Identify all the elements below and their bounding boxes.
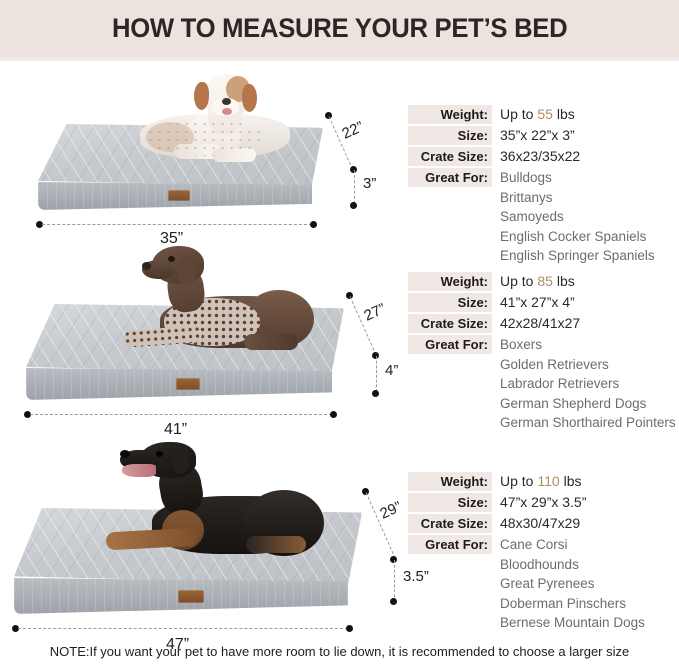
spec-value-weight: Up to 85 lbs	[492, 272, 575, 291]
page-title: HOW TO MEASURE YOUR PET’S BED	[112, 13, 567, 44]
weight-prefix: Up to	[500, 273, 537, 289]
spec-row-size: Size: 35”x 22”x 3”	[408, 126, 676, 145]
spec-value-size: 41”x 27”x 4”	[492, 293, 575, 312]
dim-line-height	[354, 170, 355, 204]
spec-value-crate-size: 42x28/41x27	[492, 314, 580, 333]
brand-logo-patch	[168, 190, 190, 201]
spec-label-crate-size: Crate Size:	[408, 314, 492, 333]
dog-eye	[156, 451, 163, 457]
brand-logo-patch	[178, 590, 204, 603]
spec-row-weight: Weight: Up to 55 lbs	[408, 105, 676, 124]
size-section-small: 35” 22” 3” Weight: Up to 55 lbs Size: 35…	[0, 62, 679, 234]
spec-table-large: Weight: Up to 110 lbs Size: 47”x 29”x 3.…	[408, 472, 676, 635]
spec-label-great-for: Great For:	[408, 535, 492, 554]
spec-row-size: Size: 47”x 29”x 3.5”	[408, 493, 676, 512]
weight-prefix: Up to	[500, 106, 537, 122]
breed-item: Golden Retrievers	[500, 355, 676, 375]
dim-label-height: 4”	[385, 362, 398, 379]
spec-label-weight: Weight:	[408, 472, 492, 491]
weight-number: 55	[537, 106, 553, 122]
weight-suffix: lbs	[553, 273, 575, 289]
breed-item: Bloodhounds	[500, 555, 645, 575]
weight-suffix: lbs	[553, 106, 575, 122]
dog-german-shorthaired-pointer	[126, 246, 316, 364]
spec-value-weight: Up to 110 lbs	[492, 472, 581, 491]
page-header: HOW TO MEASURE YOUR PET’S BED	[0, 0, 679, 57]
dog-ear	[178, 256, 196, 286]
spec-row-great-for: Great For: Boxers Golden Retrievers Labr…	[408, 335, 676, 433]
spec-value-crate-size: 48x30/47x29	[492, 514, 580, 533]
dog-rear-leg-tan	[246, 536, 306, 553]
breed-item: Bulldogs	[500, 168, 655, 188]
header-underline	[0, 57, 679, 61]
spec-row-crate: Crate Size: 36x23/35x22	[408, 147, 676, 166]
breed-item: Boxers	[500, 335, 676, 355]
footer-note: NOTE:If you want your pet to have more r…	[0, 644, 679, 659]
breed-item: Cane Corsi	[500, 535, 645, 555]
bed-illustration-small: 35” 22” 3”	[38, 72, 368, 232]
spec-label-size: Size:	[408, 493, 492, 512]
spec-row-weight: Weight: Up to 110 lbs	[408, 472, 676, 491]
spec-table-medium: Weight: Up to 85 lbs Size: 41”x 27”x 4” …	[408, 272, 676, 435]
dog-doberman-pinscher	[110, 438, 325, 578]
spec-value-crate-size: 36x23/35x22	[492, 147, 580, 166]
spec-value-size: 47”x 29”x 3.5”	[492, 493, 586, 512]
spec-row-great-for: Great For: Cane Corsi Bloodhounds Great …	[408, 535, 676, 633]
dim-dot-width-right	[310, 221, 317, 228]
spec-row-crate: Crate Size: 42x28/41x27	[408, 314, 676, 333]
breed-item: Samoyeds	[500, 207, 655, 227]
dog-nose	[142, 262, 151, 270]
breed-item: Brittanys	[500, 188, 655, 208]
spec-label-great-for: Great For:	[408, 168, 492, 187]
spec-label-weight: Weight:	[408, 105, 492, 124]
spec-label-size: Size:	[408, 126, 492, 145]
dog-ear	[172, 448, 189, 474]
breed-item: Great Pyrenees	[500, 574, 645, 594]
weight-prefix: Up to	[500, 473, 537, 489]
spec-row-weight: Weight: Up to 85 lbs	[408, 272, 676, 291]
spec-label-size: Size:	[408, 293, 492, 312]
size-section-medium: 41” 27” 4” Weight: Up to 85 lbs Size: 41…	[0, 232, 679, 422]
size-section-large: 47” 29” 3.5” Weight: Up to 110 lbs Size:…	[0, 420, 679, 638]
spec-row-crate: Crate Size: 48x30/47x29	[408, 514, 676, 533]
weight-number: 85	[537, 273, 553, 289]
brand-logo-patch	[176, 378, 200, 390]
dim-dot-height-bottom	[372, 390, 379, 397]
dim-label-depth: 29”	[377, 498, 404, 522]
dog-ear-left	[194, 82, 209, 110]
dog-nose	[120, 450, 130, 458]
dog-brittany-spaniel	[130, 72, 300, 172]
spec-label-crate-size: Crate Size:	[408, 147, 492, 166]
dim-line-width	[30, 414, 332, 415]
spec-label-crate-size: Crate Size:	[408, 514, 492, 533]
breed-list: Cane Corsi Bloodhounds Great Pyrenees Do…	[492, 535, 645, 633]
spec-label-weight: Weight:	[408, 272, 492, 291]
dim-line-height	[376, 356, 377, 392]
dim-dot-height-bottom	[350, 202, 357, 209]
breed-item: German Shepherd Dogs	[500, 394, 676, 414]
dim-line-height	[394, 560, 395, 602]
dim-dot-height-bottom	[390, 598, 397, 605]
bed-illustration-large: 47” 29” 3.5”	[14, 438, 386, 636]
spec-value-size: 35”x 22”x 3”	[492, 126, 575, 145]
dog-eye	[168, 256, 175, 262]
spec-row-size: Size: 41”x 27”x 4”	[408, 293, 676, 312]
spec-value-weight: Up to 55 lbs	[492, 105, 575, 124]
dim-label-height: 3”	[363, 175, 376, 192]
breed-item: Bernese Mountain Dogs	[500, 613, 645, 633]
dim-label-depth: 27”	[361, 300, 388, 324]
dim-dot-width-right	[330, 411, 337, 418]
dog-open-mouth-tongue	[122, 464, 156, 477]
dog-ear-right	[242, 84, 257, 112]
dog-rear-leg	[244, 334, 298, 350]
dog-nose	[222, 98, 231, 105]
dog-speckle-pattern	[146, 120, 266, 156]
bed-illustration-medium: 41” 27” 4”	[26, 246, 378, 422]
breed-item: Doberman Pinschers	[500, 594, 645, 614]
weight-number: 110	[537, 473, 559, 489]
breed-list: Boxers Golden Retrievers Labrador Retrie…	[492, 335, 676, 433]
dim-label-depth: 22”	[339, 118, 366, 142]
dim-line-width	[42, 224, 312, 225]
dog-tongue	[222, 108, 232, 115]
dim-line-width	[18, 628, 348, 629]
weight-suffix: lbs	[560, 473, 582, 489]
spec-label-great-for: Great For:	[408, 335, 492, 354]
breed-item: Labrador Retrievers	[500, 374, 676, 394]
dim-dot-width-right	[346, 625, 353, 632]
